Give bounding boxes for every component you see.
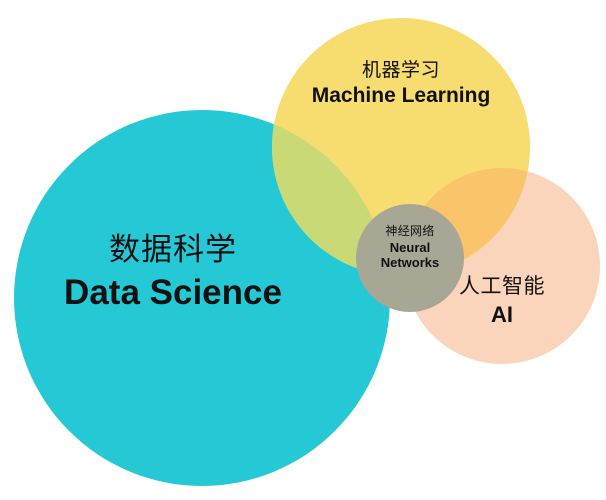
label-ai-en: AI <box>437 302 567 328</box>
label-machine-learning: 机器学习 Machine Learning <box>296 60 506 109</box>
label-machine-learning-cn: 机器学习 <box>296 60 506 82</box>
label-neural-networks: 神经网络 Neural Networks <box>355 224 465 271</box>
label-neural-networks-cn: 神经网络 <box>355 224 465 238</box>
label-data-science-cn: 数据科学 <box>28 232 318 269</box>
label-data-science: 数据科学 Data Science <box>28 232 318 313</box>
label-neural-networks-en-line2: Networks <box>355 255 465 270</box>
label-data-science-en: Data Science <box>28 272 318 313</box>
label-neural-networks-en-line1: Neural <box>355 240 465 255</box>
label-ai: 人工智能 AI <box>437 275 567 328</box>
label-ai-cn: 人工智能 <box>437 275 567 300</box>
venn-diagram: 数据科学 Data Science 机器学习 Machine Learning … <box>0 0 606 500</box>
label-machine-learning-en: Machine Learning <box>296 84 506 109</box>
